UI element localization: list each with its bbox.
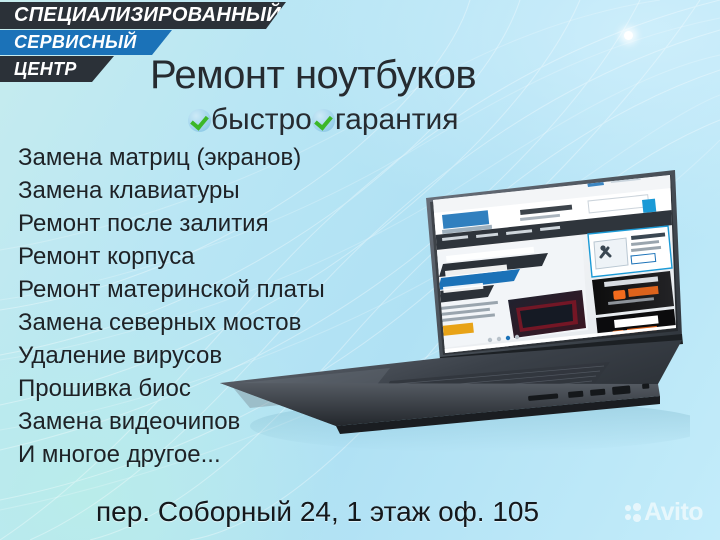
poster-canvas: СПЕЦИАЛИЗИРОВАННЫЙ СЕРВИСНЫЙ ЦЕНТР Ремон… bbox=[0, 0, 720, 540]
avito-logo-icon bbox=[625, 503, 640, 522]
laptop-photo bbox=[190, 168, 690, 468]
glow-dot-decoration bbox=[624, 31, 633, 40]
ribbon-label-service: СЕРВИСНЫЙ bbox=[14, 32, 137, 53]
ribbon-label-center: ЦЕНТР bbox=[14, 59, 77, 80]
ribbon-bar-specialized: СПЕЦИАЛИЗИРОВАННЫЙ bbox=[0, 2, 286, 29]
check-circle-icon bbox=[188, 109, 211, 132]
benefit-label-warranty: гарантия bbox=[335, 103, 459, 137]
page-title: Ремонт ноутбуков bbox=[150, 53, 476, 98]
avito-watermark: Avito bbox=[625, 500, 703, 525]
avito-watermark-label: Avito bbox=[644, 500, 703, 525]
list-item: Замена матриц (экранов) bbox=[18, 146, 325, 170]
check-circle-icon bbox=[312, 109, 335, 132]
ribbon-label-specialized: СПЕЦИАЛИЗИРОВАННЫЙ bbox=[14, 4, 281, 27]
ribbon-bar-center: ЦЕНТР bbox=[0, 56, 114, 82]
address-text: пер. Соборный 24, 1 этаж оф. 105 bbox=[96, 496, 539, 528]
ribbon-bar-service: СЕРВИСНЫЙ bbox=[0, 30, 172, 55]
benefit-label-fast: быстро bbox=[211, 103, 312, 137]
benefits-row: быстро гарантия bbox=[188, 103, 459, 137]
